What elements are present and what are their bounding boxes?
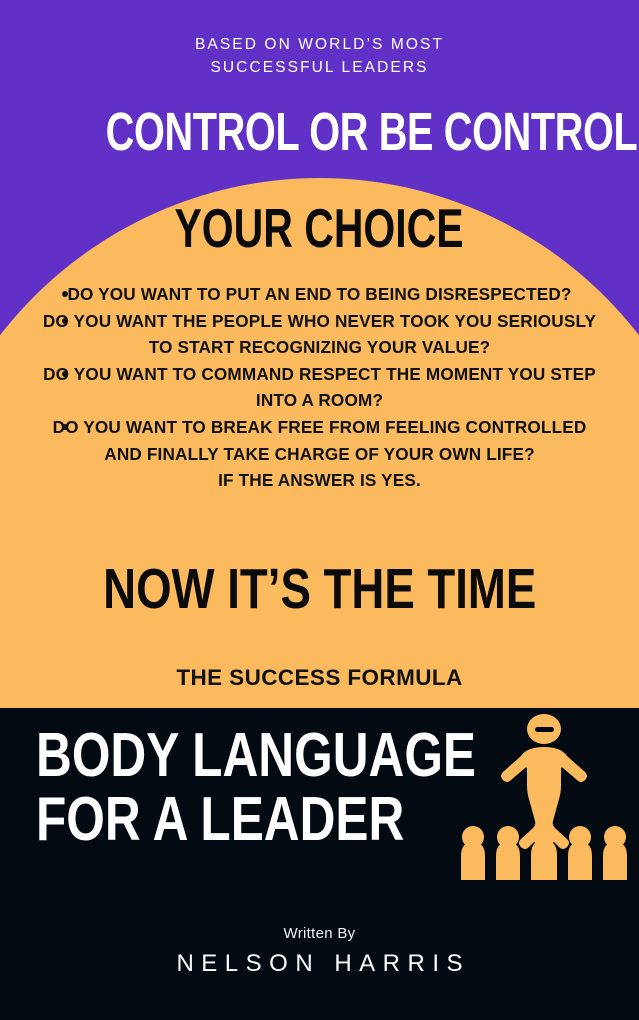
book-title-line-1: BODY LANGUAGE	[36, 724, 420, 788]
follower-figure	[603, 826, 627, 880]
headline-control-or-be-controled: CONTROL OR BE CONTROLED	[0, 103, 639, 161]
tagline: BASED ON WORLD’S MOST SUCCESSFUL LEADERS	[0, 33, 639, 79]
list-item: DO YOU WANT THE PEOPLE WHO NEVER TOOK YO…	[0, 308, 639, 361]
bullet-dot-icon	[62, 371, 68, 377]
bullet-dot-icon	[62, 291, 68, 297]
answer-line: IF THE ANSWER IS YES.	[0, 467, 639, 494]
follower-figure	[496, 826, 520, 880]
book-title: BODY LANGUAGE FOR A LEADER	[36, 724, 516, 852]
headline-your-choice: YOUR CHOICE	[0, 198, 639, 258]
list-item-text: DO YOU WANT TO BREAK FREE FROM FEELING C…	[53, 417, 587, 464]
written-by-label: Written By	[0, 925, 639, 942]
headline-choice-text: YOUR CHOICE	[175, 198, 464, 258]
bullet-list: DO YOU WANT TO PUT AN END TO BEING DISRE…	[0, 281, 639, 494]
list-item: DO YOU WANT TO COMMAND RESPECT THE MOMEN…	[0, 361, 639, 414]
list-item-text: DO YOU WANT THE PEOPLE WHO NEVER TOOK YO…	[43, 311, 596, 358]
headline-main-text: CONTROL OR BE CONTROLED	[106, 103, 639, 161]
tagline-line-2: SUCCESSFUL LEADERS	[0, 56, 639, 79]
list-item-text: DO YOU WANT TO COMMAND RESPECT THE MOMEN…	[43, 364, 596, 411]
leader-mouth-icon	[535, 727, 554, 732]
leader-and-followers-illustration	[455, 712, 639, 880]
list-item-text: DO YOU WANT TO PUT AN END TO BEING DISRE…	[67, 284, 571, 304]
book-title-line-2: FOR A LEADER	[36, 788, 420, 852]
follower-figure	[461, 826, 485, 880]
bullet-dot-icon	[62, 424, 68, 430]
book-cover: BASED ON WORLD’S MOST SUCCESSFUL LEADERS…	[0, 0, 639, 1020]
author-name: NELSON HARRIS	[0, 950, 639, 978]
tagline-line-1: BASED ON WORLD’S MOST	[0, 33, 639, 56]
list-item: DO YOU WANT TO BREAK FREE FROM FEELING C…	[0, 414, 639, 467]
bullet-dot-icon	[62, 318, 68, 324]
headline-now-text: NOW IT’S THE TIME	[103, 558, 536, 620]
follower-figure	[568, 826, 592, 880]
subtitle-the-success-formula: THE SUCCESS FORMULA	[0, 665, 639, 691]
headline-now-its-the-time: NOW IT’S THE TIME	[0, 558, 639, 620]
list-item: DO YOU WANT TO PUT AN END TO BEING DISRE…	[0, 281, 639, 308]
